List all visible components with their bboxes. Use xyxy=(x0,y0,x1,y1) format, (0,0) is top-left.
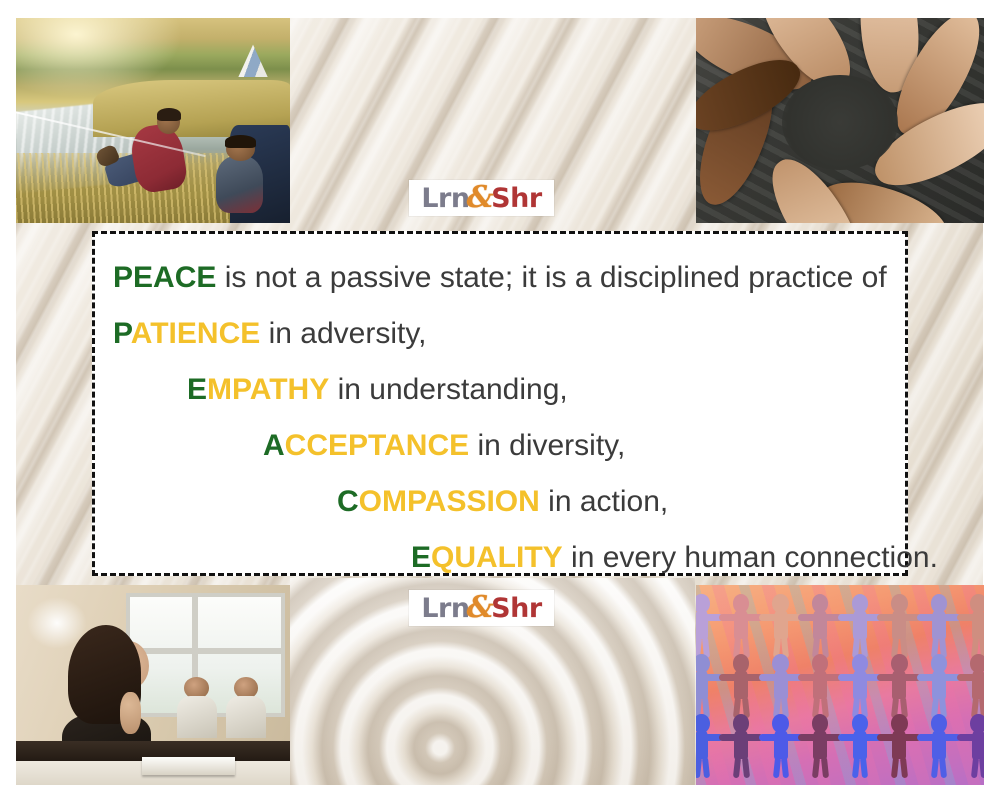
paper-doll xyxy=(922,654,956,717)
quote-line-4: ACCEPTANCE in diversity, xyxy=(109,418,891,474)
paper-doll xyxy=(922,594,956,657)
classmate-2 xyxy=(224,677,267,737)
quote-line-5: COMPASSION in action, xyxy=(109,474,891,530)
paper-doll xyxy=(882,654,916,717)
paper-doll-row-3 xyxy=(696,709,984,777)
quote-line-5-text: in action, xyxy=(540,485,668,518)
paper-doll xyxy=(724,654,758,717)
open-notebook xyxy=(142,757,235,775)
paper-doll xyxy=(764,594,798,657)
quote-line-1-text: is not a passive state; it is a discipli… xyxy=(216,261,886,294)
paper-doll-row-1 xyxy=(696,589,984,657)
paper-doll xyxy=(696,594,719,657)
keyword-empathy: EMPATHY xyxy=(187,373,329,406)
keyword-equality: EQUALITY xyxy=(411,541,563,574)
paper-doll xyxy=(843,654,877,717)
paper-doll xyxy=(724,594,758,657)
quote-text-box: PEACE is not a passive state; it is a di… xyxy=(92,231,908,576)
logo-wordmark: Lrn&Shr xyxy=(421,593,541,623)
photo-father-and-son-fishing xyxy=(16,18,290,223)
paper-doll-row-2 xyxy=(696,649,984,717)
quote-line-2-text: in adversity, xyxy=(260,317,426,350)
logo-ampersand-icon: & xyxy=(467,180,494,215)
paper-doll xyxy=(724,714,758,777)
quote-line-3: EMPATHY in understanding, xyxy=(109,362,891,418)
father-hair xyxy=(157,108,181,121)
hands-circle-center xyxy=(782,75,897,169)
logo-part1: Lrn xyxy=(421,183,469,214)
paper-doll xyxy=(696,654,719,717)
paper-doll xyxy=(961,594,984,657)
quote-line-2: PATIENCE in adversity, xyxy=(109,306,891,362)
keyword-peace: PEACE xyxy=(113,261,216,294)
paper-doll xyxy=(961,714,984,777)
logo-part1: Lrn xyxy=(421,593,469,624)
logo-lrn-and-shr-top: Lrn&Shr xyxy=(409,180,554,216)
paper-doll xyxy=(803,714,837,777)
paper-doll xyxy=(882,714,916,777)
photo-student-in-classroom xyxy=(16,585,290,785)
paper-doll xyxy=(803,594,837,657)
paper-doll xyxy=(922,714,956,777)
son-hair xyxy=(225,135,257,148)
photo-paper-chain-people xyxy=(696,585,984,785)
paper-doll xyxy=(961,654,984,717)
classmates-group xyxy=(175,677,274,737)
student-hand-on-chin xyxy=(120,692,141,734)
quote-line-1: PEACE is not a passive state; it is a di… xyxy=(109,250,891,306)
logo-part2: Shr xyxy=(491,183,541,214)
paper-doll xyxy=(843,714,877,777)
paper-doll xyxy=(764,714,798,777)
tent-icon xyxy=(230,43,277,78)
classmate-1 xyxy=(175,677,218,737)
poster-canvas: Lrn&Shr Lrn&Shr PEACE is not a passive s… xyxy=(0,0,1000,800)
quote-line-6-text: in every human connection. xyxy=(563,541,938,574)
son-torso xyxy=(216,156,263,213)
quote-line-6: EQUALITY in every human connection. xyxy=(109,530,891,586)
keyword-patience: PATIENCE xyxy=(113,317,260,350)
logo-lrn-and-shr-bottom: Lrn&Shr xyxy=(409,590,554,626)
quote-line-4-text: in diversity, xyxy=(469,429,625,462)
logo-wordmark: Lrn&Shr xyxy=(421,183,541,213)
keyword-acceptance: ACCEPTANCE xyxy=(263,429,469,462)
son-figure xyxy=(208,137,274,223)
paper-doll xyxy=(882,594,916,657)
father-figure xyxy=(115,108,197,215)
keyword-compassion: COMPASSION xyxy=(337,485,540,518)
quote-line-3-text: in understanding, xyxy=(329,373,568,406)
paper-doll xyxy=(764,654,798,717)
paper-doll xyxy=(843,594,877,657)
photo-diverse-hands-circle xyxy=(696,18,984,223)
paper-doll xyxy=(803,654,837,717)
logo-part2: Shr xyxy=(491,593,541,624)
father-torso xyxy=(128,122,189,195)
paper-doll xyxy=(696,714,719,777)
logo-ampersand-icon: & xyxy=(467,590,494,625)
